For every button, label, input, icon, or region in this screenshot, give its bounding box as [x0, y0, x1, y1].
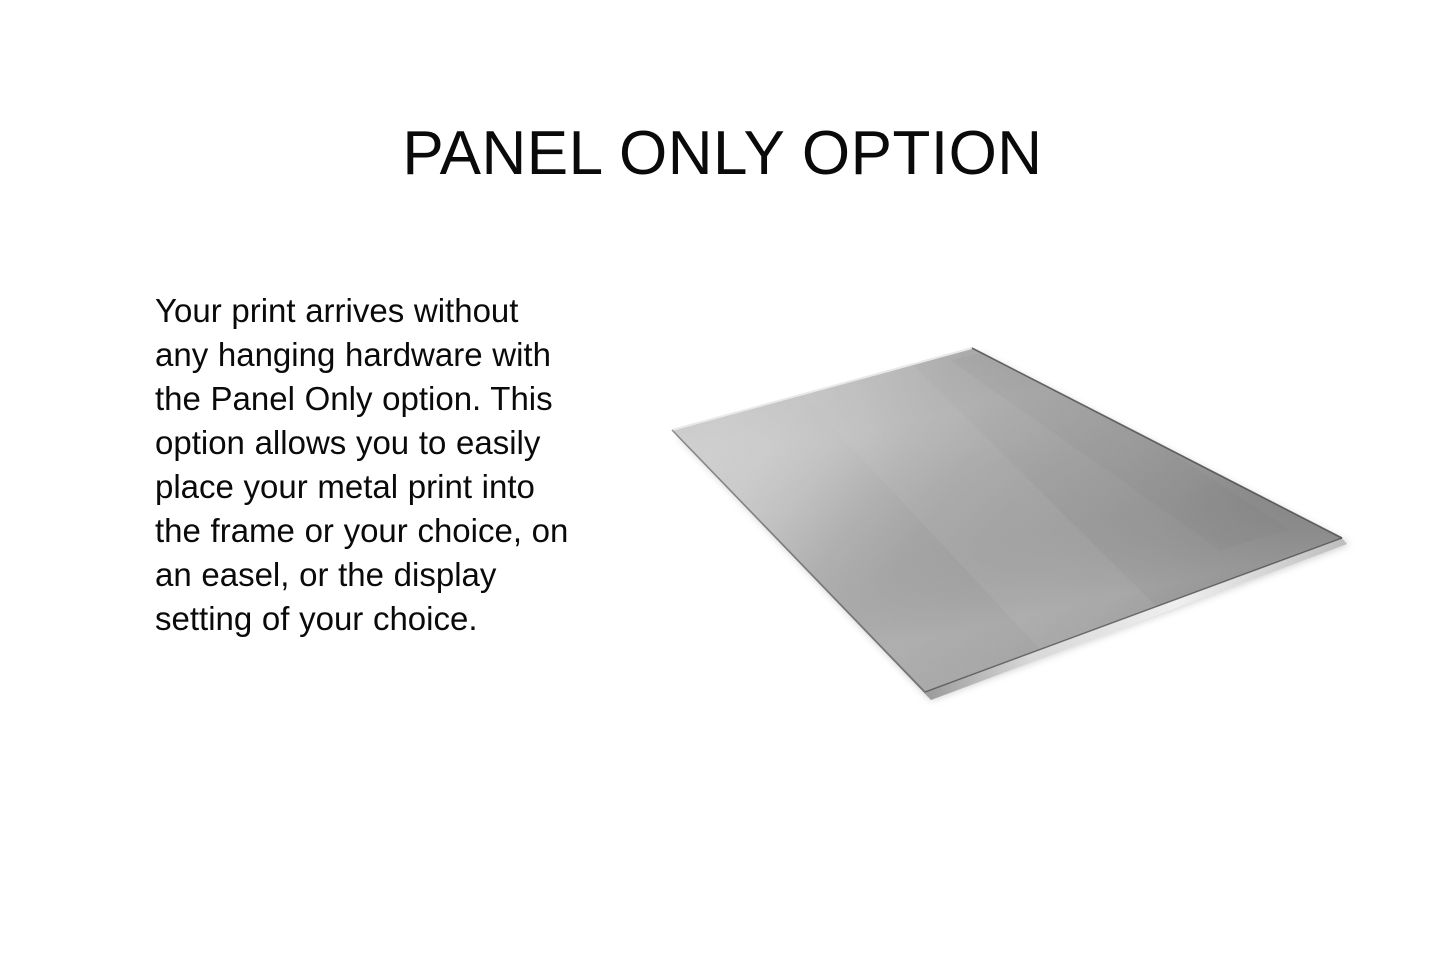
panel-grain: [672, 348, 1342, 692]
slide-canvas: PANEL ONLY OPTION Your print arrives wit…: [0, 0, 1445, 963]
body-paragraph: Your print arrives without any hanging h…: [155, 289, 573, 641]
page-title: PANEL ONLY OPTION: [0, 121, 1445, 186]
metal-panel-illustration: [650, 330, 1370, 720]
